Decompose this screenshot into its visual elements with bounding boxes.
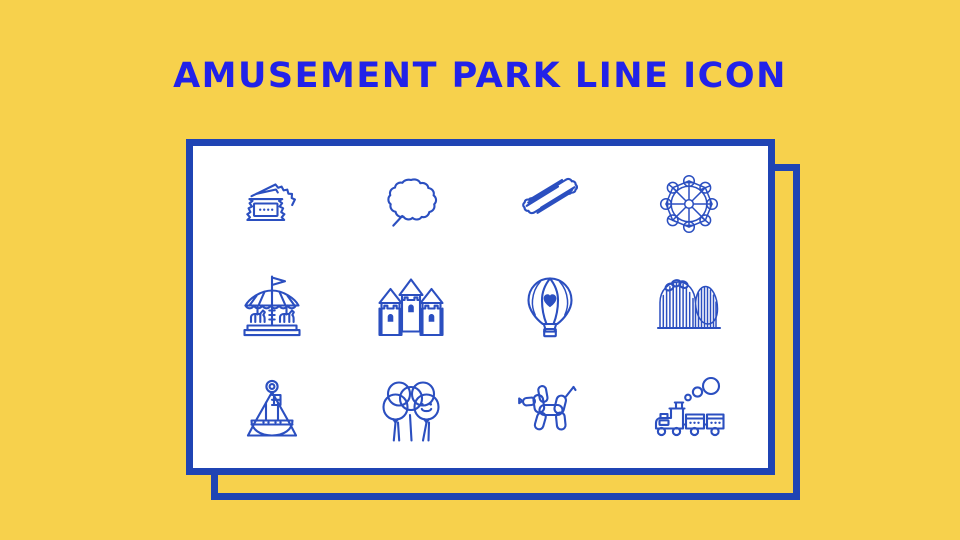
balloons-icon	[373, 372, 449, 448]
icon-cell-roller-coaster[interactable]	[619, 255, 758, 358]
icon-cell-castle[interactable]	[342, 255, 481, 358]
icon-cell-toy-train[interactable]	[619, 359, 758, 462]
icon-cell-hot-air-balloon[interactable]	[481, 255, 620, 358]
churro-icon	[513, 167, 587, 241]
icon-cell-ferris-wheel[interactable]	[619, 152, 758, 255]
poster-canvas: AMUSEMENT PARK LINE ICON	[0, 0, 960, 540]
icon-panel	[186, 139, 775, 475]
roller-coaster-icon	[650, 268, 728, 346]
icon-cell-balloons[interactable]	[342, 359, 481, 462]
icon-grid	[193, 146, 768, 468]
toy-train-icon	[649, 370, 729, 450]
icon-cell-cotton-candy[interactable]	[342, 152, 481, 255]
tickets-icon	[235, 167, 309, 241]
castle-icon	[373, 269, 449, 345]
icon-cell-balloon-dog[interactable]	[481, 359, 620, 462]
icon-cell-carousel[interactable]	[203, 255, 342, 358]
ferris-wheel-icon	[652, 167, 726, 241]
cotton-candy-icon	[374, 167, 448, 241]
pirate-ship-ride-icon	[234, 372, 310, 448]
icon-cell-churro[interactable]	[481, 152, 620, 255]
carousel-icon	[233, 268, 311, 346]
hot-air-balloon-icon	[513, 270, 587, 344]
icon-cell-tickets[interactable]	[203, 152, 342, 255]
balloon-dog-icon	[511, 371, 589, 449]
icon-cell-pirate-ship-ride[interactable]	[203, 359, 342, 462]
page-title: AMUSEMENT PARK LINE ICON	[0, 56, 960, 96]
